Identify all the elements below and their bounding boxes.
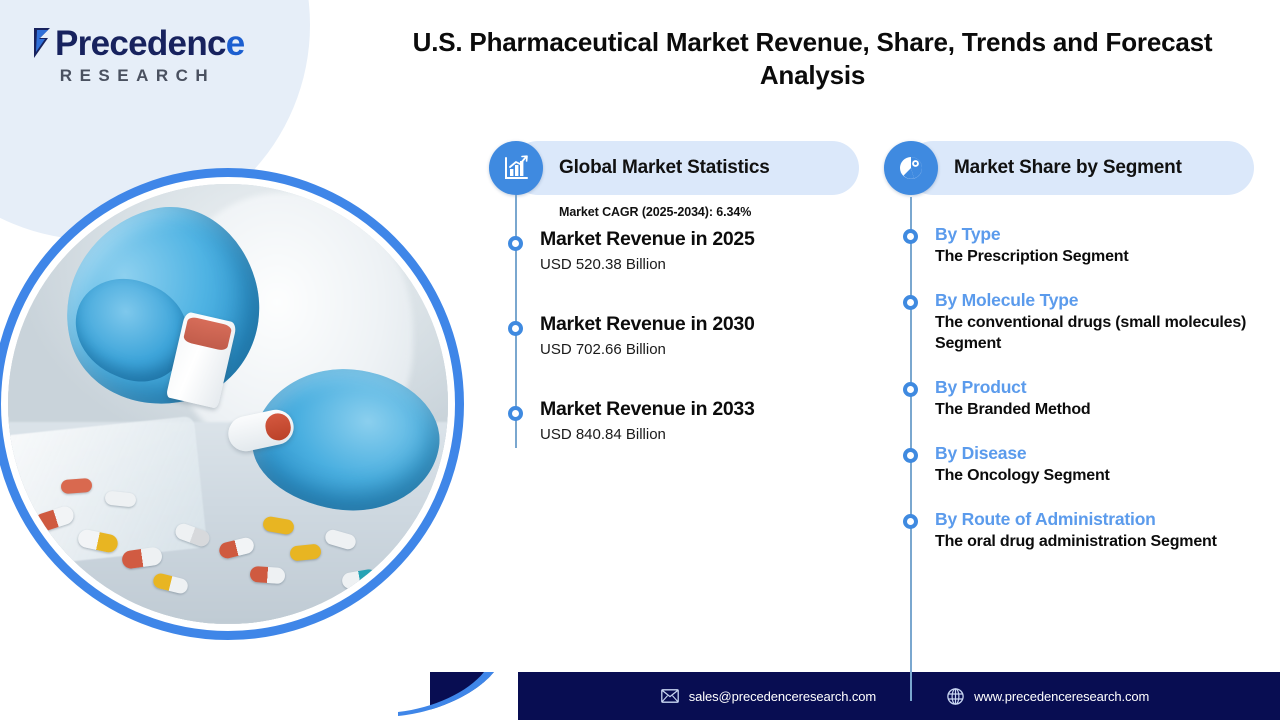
list-item: By Molecule Type The conventional drugs … [884,289,1254,354]
market-cagr-text: Market CAGR (2025-2034): 6.34% [559,205,859,219]
page-title: U.S. Pharmaceutical Market Revenue, Shar… [400,26,1225,92]
lab-technician-handling-pill-vials-photo [8,184,448,624]
segment-bullet-icon [903,382,918,397]
revenue-label: Market Revenue in 2030 [540,312,859,336]
footer-contact-group: sales@precedenceresearch.com www.precede… [430,672,1280,720]
photo-ring-border [0,168,464,640]
segment-bullet-icon [903,514,918,529]
stats-panel-title: Global Market Statistics [559,141,770,195]
stats-panel-header: Global Market Statistics [489,141,859,195]
revenue-value: USD 520.38 Billion [540,255,859,275]
logo-text-part3: e [226,24,245,63]
infographic-canvas: Precedence RESEARCH U.S. Pharmaceutical … [0,0,1280,720]
hero-photo [0,168,480,708]
timeline-bullet-icon [508,321,523,336]
segment-description: The conventional drugs (small molecules)… [935,312,1254,354]
segment-panel-title: Market Share by Segment [954,141,1182,195]
revenue-value: USD 840.84 Billion [540,425,859,445]
list-item: Market Revenue in 2033 USD 840.84 Billio… [489,397,859,482]
footer-email-text: sales@precedenceresearch.com [689,689,876,704]
footer-website[interactable]: www.precedenceresearch.com [946,687,1149,705]
segment-panel-header: Market Share by Segment [884,141,1254,195]
pie-chart-icon [884,141,938,195]
list-item: By Disease The Oncology Segment [884,442,1254,486]
market-revenue-timeline: Market Revenue in 2025 USD 520.38 Billio… [489,227,859,482]
revenue-value: USD 702.66 Billion [540,340,859,360]
market-share-by-segment-panel: Market Share by Segment By Type The Pres… [884,141,1254,574]
footer-email[interactable]: sales@precedenceresearch.com [661,687,876,705]
logo-text-part2: recedenc [78,24,226,63]
segment-bullet-icon [903,448,918,463]
logo-text-part1: P [55,24,78,63]
list-item: Market Revenue in 2030 USD 702.66 Billio… [489,312,859,397]
list-item: By Type The Prescription Segment [884,223,1254,267]
list-item: By Route of Administration The oral drug… [884,508,1254,552]
footer-bar: sales@precedenceresearch.com www.precede… [430,672,1280,720]
segment-description: The oral drug administration Segment [935,531,1254,552]
segment-description: The Oncology Segment [935,465,1254,486]
bar-chart-growth-icon [489,141,543,195]
segment-title: By Type [935,223,1254,245]
logo-text: Precedence [55,24,245,64]
envelope-icon [661,687,679,705]
segment-title: By Product [935,376,1254,398]
segment-title: By Disease [935,442,1254,464]
revenue-label: Market Revenue in 2033 [540,397,859,421]
segment-title: By Molecule Type [935,289,1254,311]
timeline-bullet-icon [508,236,523,251]
segment-title: By Route of Administration [935,508,1254,530]
globe-icon [946,687,964,705]
global-market-statistics-panel: Global Market Statistics Market CAGR (20… [489,141,859,482]
list-item: By Product The Branded Method [884,376,1254,420]
segment-description: The Prescription Segment [935,246,1254,267]
segment-bullet-icon [903,295,918,310]
logo-wordmark: Precedence [28,24,243,64]
brand-logo[interactable]: Precedence RESEARCH [28,24,243,86]
revenue-label: Market Revenue in 2025 [540,227,859,251]
precedence-flag-icon [28,24,58,64]
segment-bullet-icon [903,229,918,244]
segment-description: The Branded Method [935,399,1254,420]
footer-website-text: www.precedenceresearch.com [974,689,1149,704]
logo-subtitle: RESEARCH [28,66,243,86]
list-item: Market Revenue in 2025 USD 520.38 Billio… [489,227,859,312]
segment-list: By Type The Prescription Segment By Mole… [884,223,1254,552]
timeline-bullet-icon [508,406,523,421]
